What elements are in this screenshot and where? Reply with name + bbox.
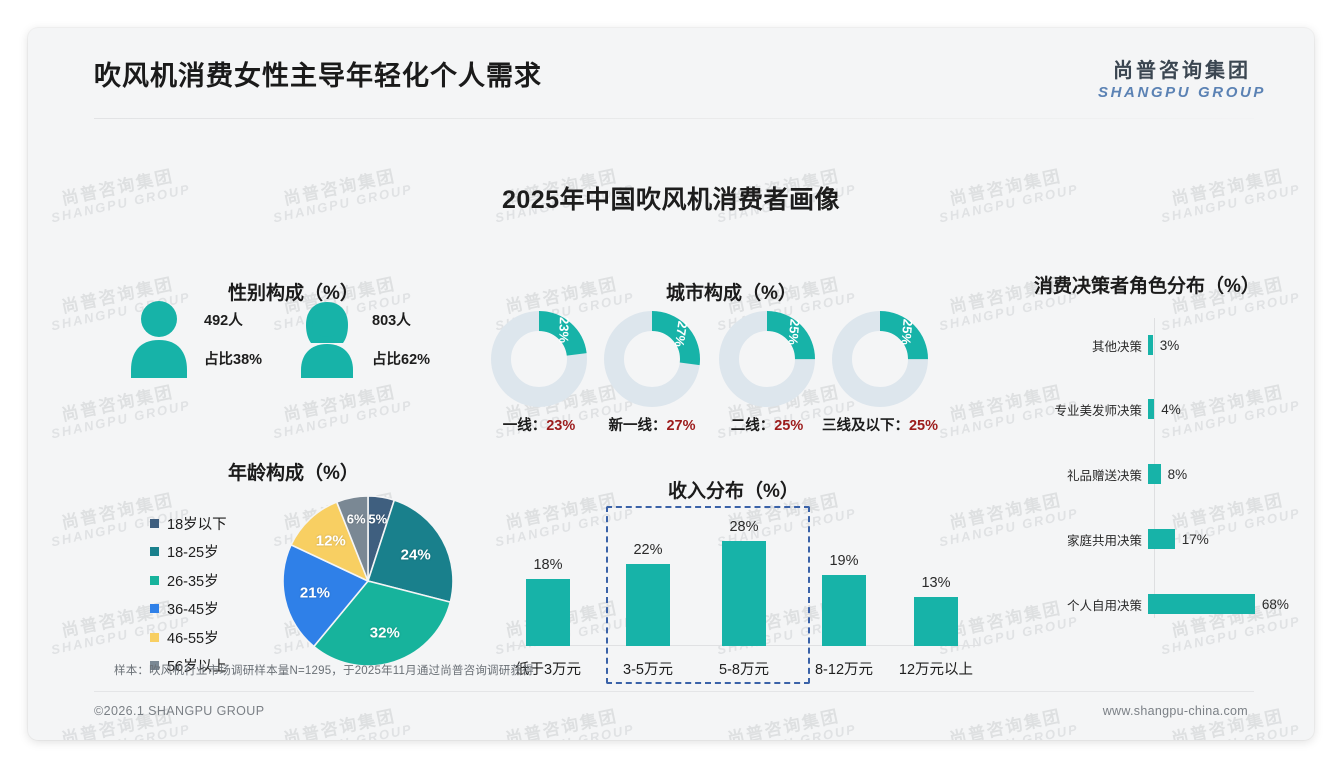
income-bar-category: 8-12万元 [815, 658, 873, 679]
city-donut-2: 27%新一线：27% [603, 310, 701, 440]
decision-category-label: 个人自用决策 [1028, 595, 1148, 614]
female-stats: 803人 占比62% [372, 309, 430, 369]
legend-swatch-icon [150, 604, 159, 613]
logo-chinese-name: 尚普咨询集团 [1098, 54, 1266, 83]
female-count: 803人 [372, 309, 430, 330]
age-legend-item-4: 36-45岁 [150, 595, 227, 624]
decision-bar [1148, 335, 1153, 355]
income-bar [526, 579, 570, 646]
decision-row-2: 专业美发师决策4% [1028, 398, 1298, 420]
legend-label: 18岁以下 [167, 513, 227, 534]
pie-slice-label-5: 12% [316, 533, 346, 550]
sample-note: 样本：吹风机行业市场调研样本量N=1295，于2025年11月通过尚普咨询调研获… [114, 662, 534, 678]
decision-role-chart: 其他决策3%专业美发师决策4%礼品赠送决策8%家庭共用决策17%个人自用决策68… [1028, 308, 1298, 628]
age-pie-chart: 5%24%32%21%12%6% [283, 496, 453, 666]
city-donut-1: 23%一线：23% [490, 310, 588, 440]
decision-bar-value: 68% [1262, 597, 1289, 612]
income-bar [822, 575, 866, 646]
pie-slice-label-6: 6% [347, 512, 366, 527]
income-panel-title: 收入分布（%） [668, 476, 799, 503]
gender-item-female: 803人 占比62% [296, 300, 430, 378]
decision-row-5: 个人自用决策68% [1028, 593, 1298, 615]
income-bar [914, 597, 958, 646]
header: 吹风机消费女性主导年轻化个人需求 尚普咨询集团 SHANGPU GROUP [28, 28, 1314, 114]
donut-percent-label: 25% [898, 319, 915, 346]
watermark-tile: 尚普咨询集团SHANGPU GROUP [490, 704, 636, 740]
decision-category-label: 礼品赠送决策 [1028, 465, 1148, 484]
male-share: 占比38% [204, 348, 262, 369]
decision-category-label: 其他决策 [1028, 336, 1148, 355]
gender-item-male: 492人 占比38% [128, 300, 262, 378]
watermark-tile: 尚普咨询集团SHANGPU GROUP [934, 704, 1080, 740]
female-share: 占比62% [372, 348, 430, 369]
legend-label: 18-25岁 [167, 541, 219, 562]
age-legend-item-5: 46-55岁 [150, 623, 227, 652]
income-distribution-chart: 18%低于3万元22%3-5万元28%5-8万元19%8-12万元13%12万元… [510, 508, 980, 688]
decision-bar [1148, 399, 1154, 419]
pie-slice-label-3: 32% [370, 624, 400, 641]
decision-bar-value: 17% [1182, 532, 1209, 547]
pie-slice-label-2: 24% [401, 546, 431, 563]
donut-percent-label: 23% [556, 317, 572, 343]
decision-row-1: 其他决策3% [1028, 334, 1298, 356]
decision-bar-value: 3% [1160, 338, 1180, 353]
watermark-tile: 尚普咨询集团SHANGPU GROUP [46, 380, 192, 442]
pie-slice-label-1: 5% [368, 511, 387, 526]
decision-bar-value: 8% [1168, 467, 1188, 482]
decision-panel-title: 消费决策者角色分布（%） [1034, 271, 1260, 298]
donut-caption-text: 一线： [503, 418, 547, 434]
legend-swatch-icon [150, 633, 159, 642]
donut-caption-text: 二线： [731, 418, 775, 434]
decision-category-label: 专业美发师决策 [1028, 400, 1148, 419]
watermark-tile: 尚普咨询集团SHANGPU GROUP [712, 704, 858, 740]
city-donut-4: 25%三线及以下：25% [831, 310, 929, 440]
income-bar-value: 13% [921, 575, 950, 591]
watermark-tile: 尚普咨询集团SHANGPU GROUP [268, 380, 414, 442]
city-panel-title: 城市构成（%） [666, 278, 797, 305]
decision-bar [1148, 594, 1255, 614]
website-url: www.shangpu-china.com [1103, 704, 1248, 718]
page-title: 吹风机消费女性主导年轻化个人需求 [94, 54, 542, 93]
income-bar-category: 12万元以上 [899, 658, 973, 679]
income-bar-column-1: 18%低于3万元 [526, 579, 570, 646]
donut-caption-text: 三线及以下： [822, 418, 909, 434]
age-legend-item-3: 26-35岁 [150, 566, 227, 595]
donut-caption-value: 23% [546, 418, 575, 434]
logo-english-name: SHANGPU GROUP [1098, 84, 1266, 101]
age-panel-title: 年龄构成（%） [228, 458, 359, 485]
watermark-tile: 尚普咨询集团SHANGPU GROUP [268, 704, 414, 740]
income-bar-value: 19% [829, 553, 858, 569]
age-pie-legend: 18岁以下18-25岁26-35岁36-45岁46-55岁56岁以上 [150, 509, 227, 680]
decision-row-4: 家庭共用决策17% [1028, 528, 1298, 550]
legend-swatch-icon [150, 547, 159, 556]
male-count: 492人 [204, 309, 262, 330]
decision-bar-value: 4% [1161, 402, 1181, 417]
decision-bar [1148, 529, 1175, 549]
female-silhouette-icon [296, 300, 358, 378]
legend-swatch-icon [150, 519, 159, 528]
decision-row-3: 礼品赠送决策8% [1028, 463, 1298, 485]
age-legend-item-2: 18-25岁 [150, 538, 227, 567]
infographic-page: 尚普咨询集团SHANGPU GROUP尚普咨询集团SHANGPU GROUP尚普… [0, 0, 1340, 780]
infographic-card: 尚普咨询集团SHANGPU GROUP尚普咨询集团SHANGPU GROUP尚普… [28, 28, 1314, 740]
donut-caption-text: 新一线： [608, 418, 666, 434]
legend-label: 46-55岁 [167, 627, 219, 648]
legend-label: 26-35岁 [167, 570, 219, 591]
income-bar-column-5: 13%12万元以上 [914, 597, 958, 646]
donut-caption: 一线：23% [503, 414, 576, 435]
income-highlight-box [606, 506, 810, 684]
legend-label: 36-45岁 [167, 598, 219, 619]
age-legend-item-1: 18岁以下 [150, 509, 227, 538]
male-stats: 492人 占比38% [204, 309, 262, 369]
income-bar-value: 18% [533, 557, 562, 573]
donut-caption: 二线：25% [731, 414, 804, 435]
donut-caption-value: 25% [774, 418, 803, 434]
decision-category-label: 家庭共用决策 [1028, 530, 1148, 549]
income-bar-column-4: 19%8-12万元 [822, 575, 866, 646]
header-divider [94, 118, 1254, 119]
legend-swatch-icon [150, 576, 159, 585]
male-silhouette-icon [128, 300, 190, 378]
city-donut-3: 25%二线：25% [718, 310, 816, 440]
donut-caption-value: 27% [666, 418, 695, 434]
decision-bar [1148, 464, 1161, 484]
donut-caption: 新一线：27% [608, 414, 695, 435]
donut-percent-label: 27% [671, 320, 690, 348]
donut-caption-value: 25% [909, 418, 938, 434]
chart-subtitle: 2025年中国吹风机消费者画像 [28, 180, 1314, 216]
brand-logo: 尚普咨询集团 SHANGPU GROUP [1098, 54, 1266, 101]
donut-caption: 三线及以下：25% [822, 414, 938, 435]
pie-slice-label-4: 21% [300, 584, 330, 601]
footer-divider [94, 691, 1254, 692]
donut-percent-label: 25% [785, 319, 802, 346]
copyright-text: ©2026.1 SHANGPU GROUP [94, 704, 264, 718]
